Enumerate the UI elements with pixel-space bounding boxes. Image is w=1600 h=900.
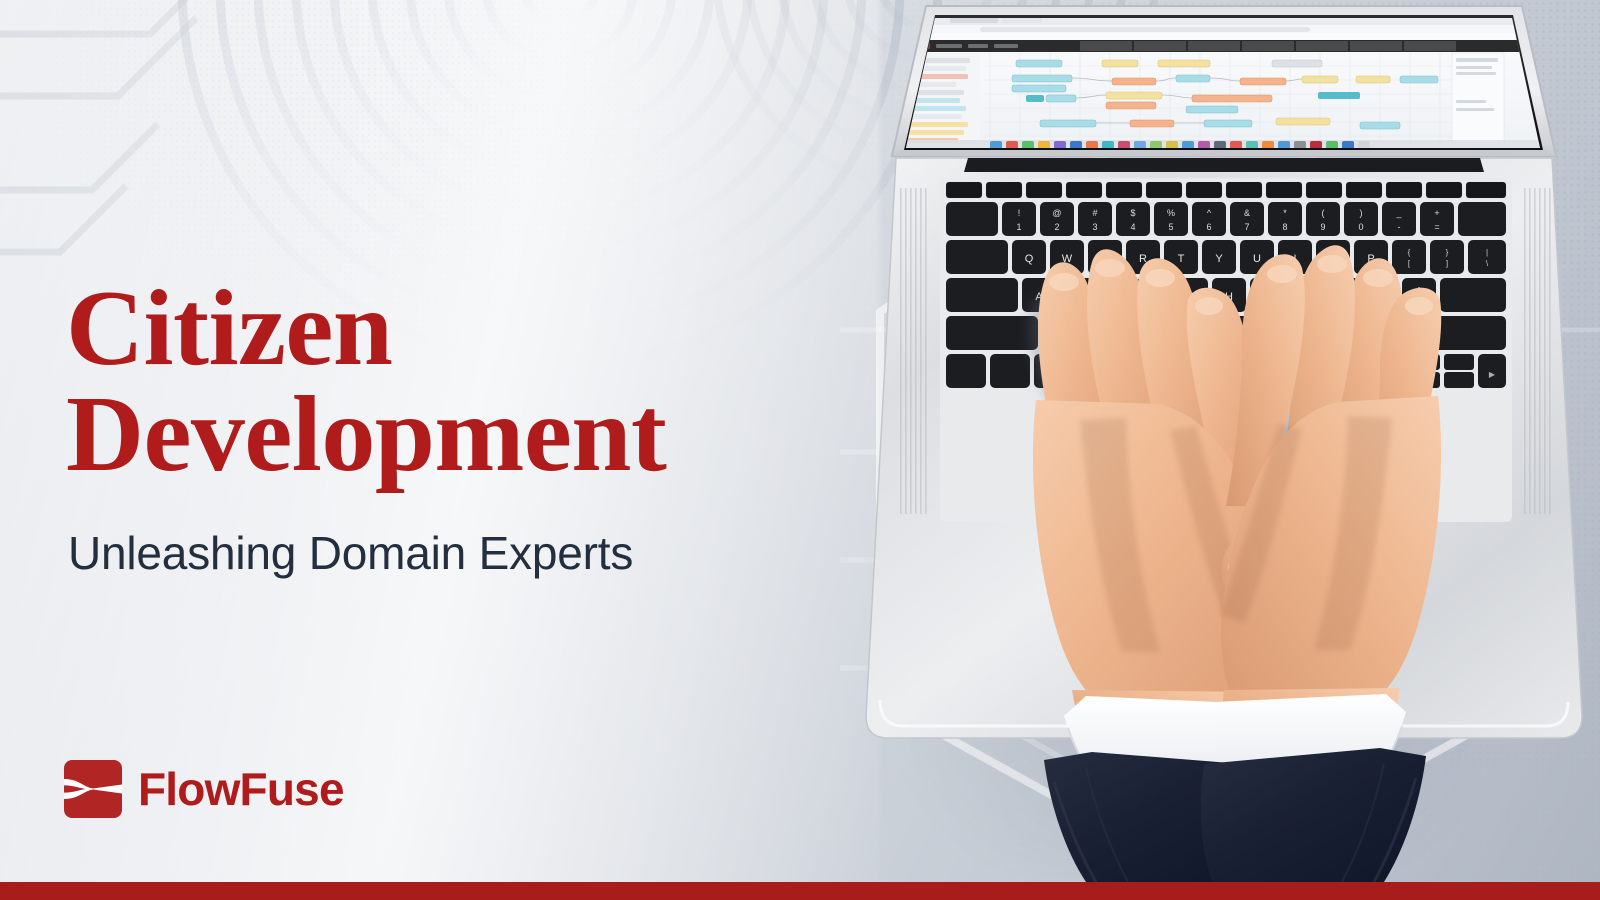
svg-text:4: 4 bbox=[1130, 222, 1135, 232]
svg-text:T: T bbox=[1178, 253, 1185, 265]
svg-text:7: 7 bbox=[1244, 222, 1249, 232]
svg-text:-: - bbox=[1398, 222, 1401, 232]
svg-text:3: 3 bbox=[1092, 222, 1097, 232]
svg-text:@: @ bbox=[1052, 208, 1061, 218]
headline-block: Citizen Development Unleashing Domain Ex… bbox=[66, 276, 666, 580]
svg-text:): ) bbox=[1360, 208, 1363, 218]
right-suit-sleeve bbox=[1201, 748, 1426, 882]
svg-text:Q: Q bbox=[1025, 253, 1034, 265]
laptop-screen bbox=[900, 8, 1550, 150]
svg-text:!: ! bbox=[1018, 208, 1021, 218]
marketing-banner: !1 @2 #3 $4 %5 ^6 &7 *8 (9 )0 _- += bbox=[0, 0, 1600, 900]
svg-text:Y: Y bbox=[1215, 253, 1223, 265]
bottom-accent-bar bbox=[0, 882, 1600, 900]
page-title: Citizen Development bbox=[66, 276, 666, 488]
laptop-photo: !1 @2 #3 $4 %5 ^6 &7 *8 (9 )0 _- += bbox=[840, 0, 1600, 882]
svg-text:(: ( bbox=[1322, 208, 1325, 218]
svg-text:2: 2 bbox=[1054, 222, 1059, 232]
svg-text:5: 5 bbox=[1168, 222, 1173, 232]
svg-text:1: 1 bbox=[1016, 222, 1021, 232]
svg-text:▶: ▶ bbox=[1489, 370, 1496, 379]
page-subtitle: Unleashing Domain Experts bbox=[68, 526, 666, 580]
svg-text:8: 8 bbox=[1282, 222, 1287, 232]
svg-text:=: = bbox=[1434, 222, 1439, 232]
svg-text:+: + bbox=[1434, 208, 1439, 218]
svg-text:%: % bbox=[1167, 208, 1175, 218]
svg-text:&: & bbox=[1244, 208, 1250, 218]
svg-text:*: * bbox=[1283, 208, 1287, 218]
svg-text:$: $ bbox=[1130, 208, 1135, 218]
svg-text:]: ] bbox=[1446, 259, 1448, 268]
svg-text:9: 9 bbox=[1320, 222, 1325, 232]
svg-text:0: 0 bbox=[1358, 222, 1363, 232]
svg-text:6: 6 bbox=[1206, 222, 1211, 232]
flowfuse-wordmark: FlowFuse bbox=[138, 762, 344, 816]
flowfuse-logo[interactable]: FlowFuse bbox=[64, 760, 344, 818]
svg-text:_: _ bbox=[1395, 208, 1402, 218]
svg-text:{: { bbox=[1408, 248, 1411, 257]
svg-text:U: U bbox=[1253, 253, 1261, 265]
svg-text:#: # bbox=[1092, 208, 1097, 218]
svg-text:}: } bbox=[1446, 248, 1449, 257]
laptop-illustration: !1 @2 #3 $4 %5 ^6 &7 *8 (9 )0 _- += bbox=[840, 0, 1600, 882]
flowfuse-logo-icon bbox=[64, 760, 122, 818]
laptop-lid bbox=[892, 6, 1556, 156]
svg-text:|: | bbox=[1486, 248, 1488, 257]
circuit-lines-graphic bbox=[0, 0, 210, 252]
